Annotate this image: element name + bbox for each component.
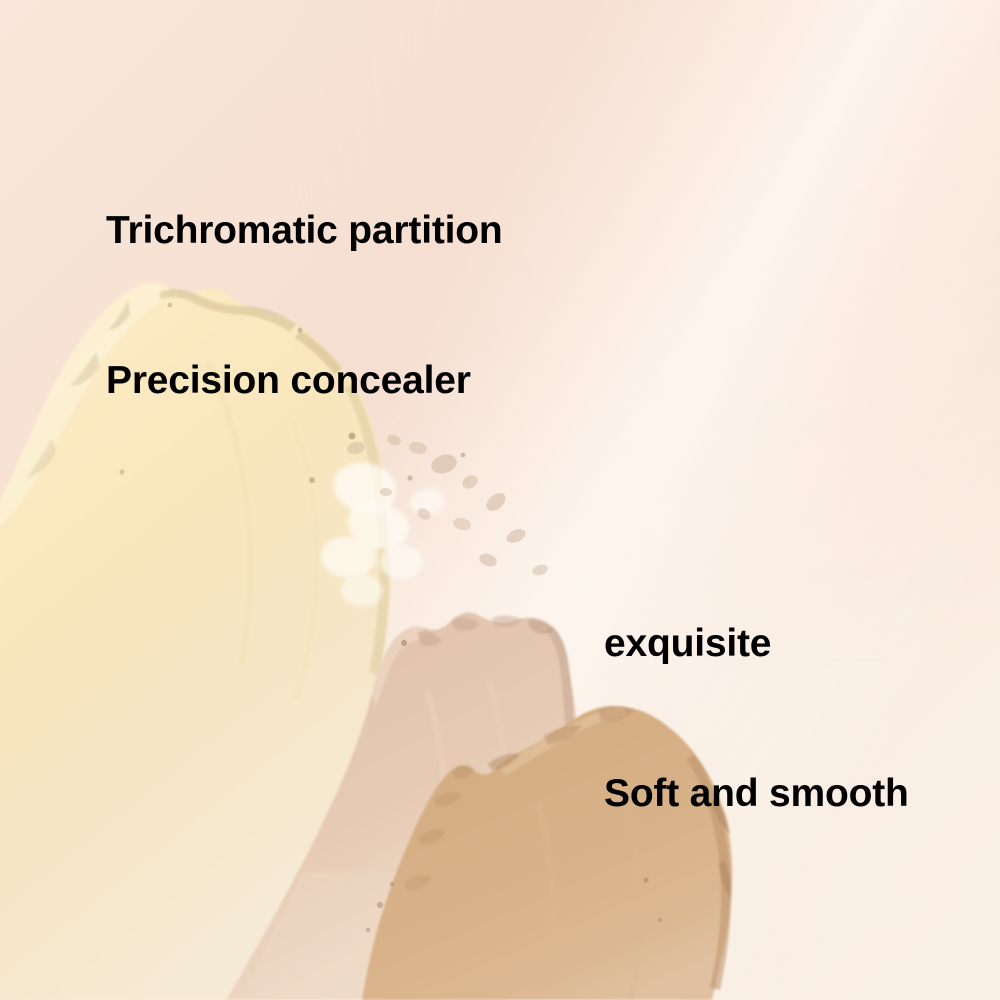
headline-secondary-line2: Soft and smooth	[604, 769, 909, 819]
product-image-canvas: Trichromatic partition Precision conceal…	[0, 0, 1000, 1000]
headline-secondary-line1: exquisite	[604, 619, 909, 669]
headline-secondary: exquisite Soft and smooth	[604, 519, 909, 919]
headline-primary-line2: Precision concealer	[106, 356, 503, 406]
headline-primary: Trichromatic partition Precision conceal…	[106, 106, 503, 506]
headline-primary-line1: Trichromatic partition	[106, 206, 503, 256]
